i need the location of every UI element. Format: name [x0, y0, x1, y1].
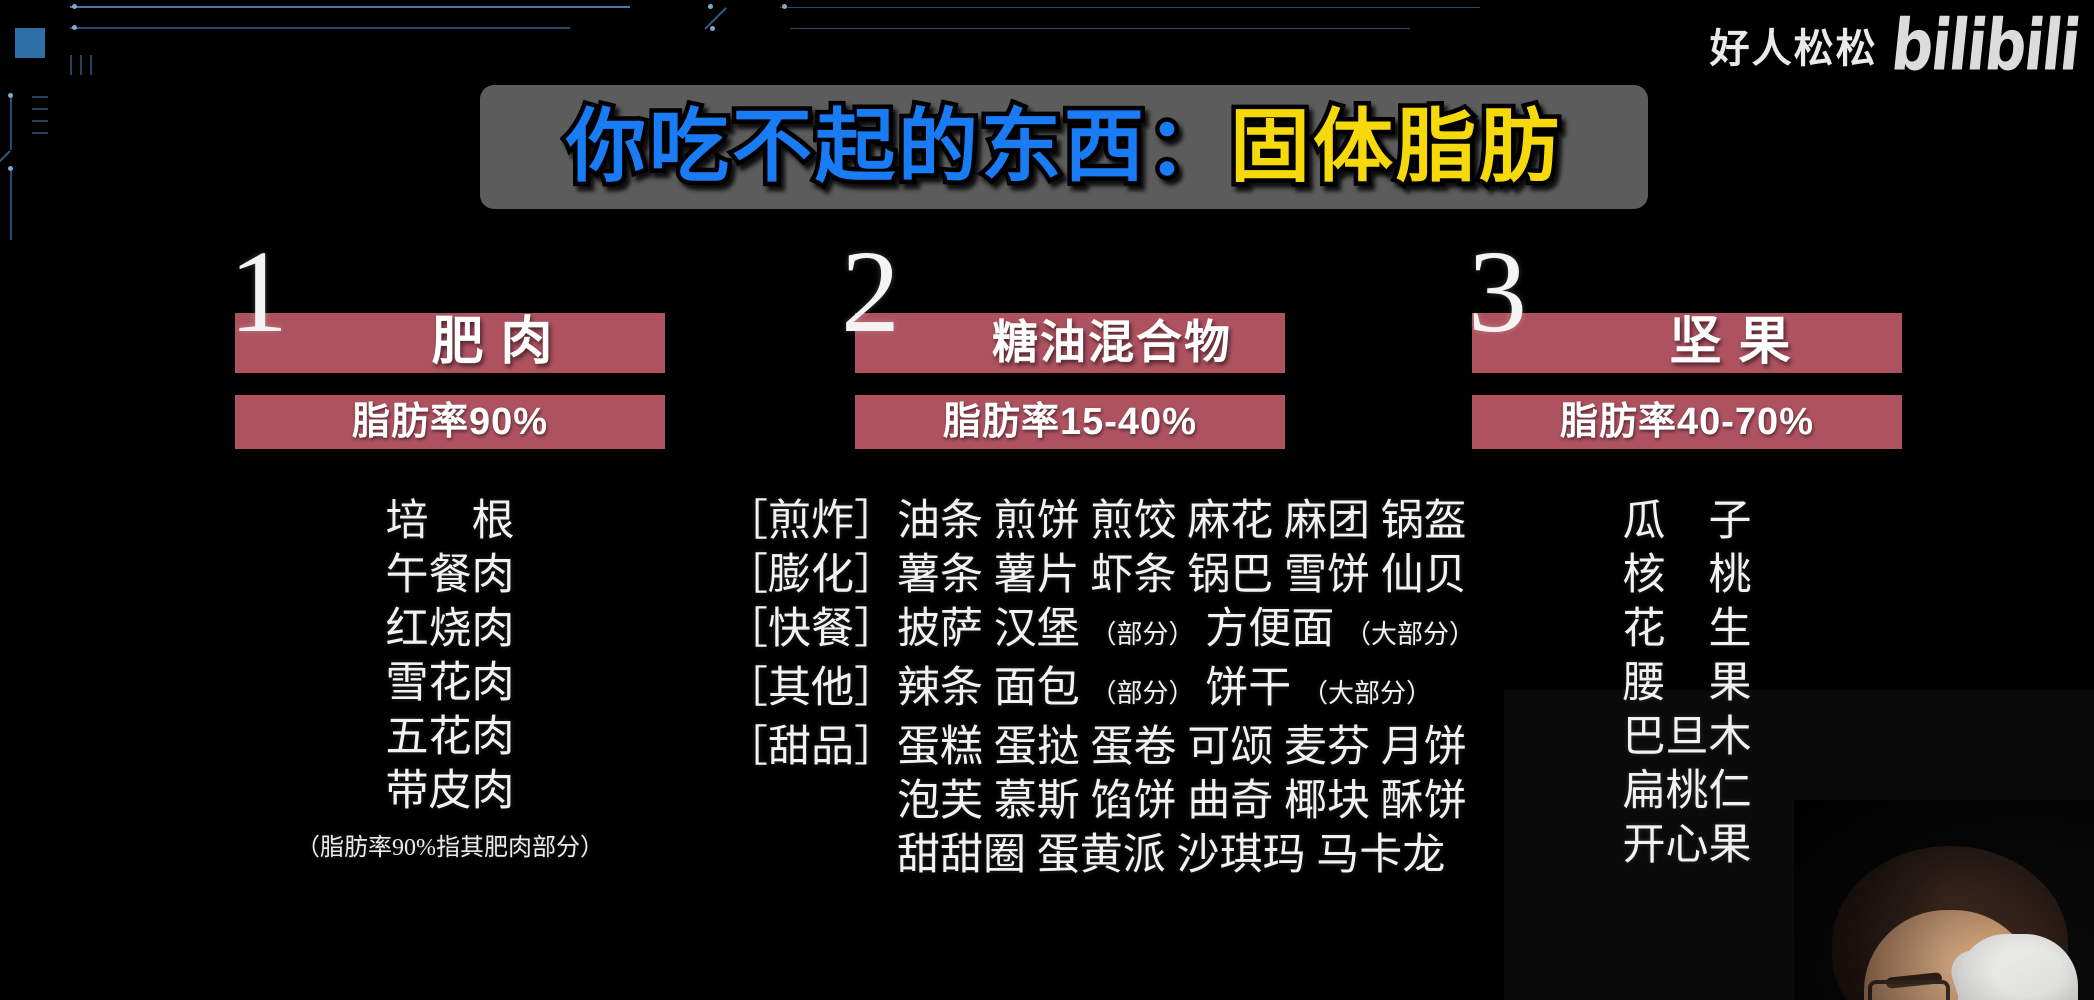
hud-dot-7 [8, 166, 13, 171]
category-column-1: 1 肥 肉 脂肪率90% 培 根 午餐肉 红烧肉 雪花肉 五花肉 带皮肉 （脂肪… [235, 245, 665, 455]
column-1-header: 1 肥 肉 脂肪率90% [235, 245, 665, 455]
bilibili-logo: bilibili [1889, 17, 2081, 74]
category-name-2: 糖油混合物 [992, 320, 1232, 366]
column-1-item-list: 培 根 午餐肉 红烧肉 雪花肉 五花肉 带皮肉 （脂肪率90%指其肥肉部分） [235, 495, 665, 863]
hud-dot-6 [8, 93, 13, 98]
hud-tick-v1 [70, 55, 72, 75]
rank-number-2: 2 [841, 233, 900, 351]
column-2-header: 2 糖油混合物 脂肪率15-40% [855, 245, 1285, 455]
fat-rate-bar-1: 脂肪率90% [235, 395, 665, 449]
hud-dot-5 [782, 4, 787, 9]
fat-rate-bar-3: 脂肪率40-70% [1472, 395, 1902, 449]
hud-blue-square [15, 28, 45, 58]
category-name-bar-2: 糖油混合物 [855, 313, 1285, 373]
hud-tick-v3 [90, 55, 92, 75]
fat-rate-bar-2: 脂肪率15-40% [855, 395, 1285, 449]
list-item: ［甜品］蛋糕 蛋挞 蛋卷 可颂 麦芬 月饼 [725, 721, 1545, 775]
hud-dot-1 [72, 4, 77, 9]
hud-top-line-3 [780, 7, 1480, 8]
list-item: 五花肉 [235, 711, 665, 765]
hud-left-rail-lower [10, 170, 12, 240]
title-prefix: 你吃不起的东西： [566, 100, 1230, 193]
title-highlight: 固体脂肪 [1230, 100, 1562, 193]
hud-tick-h3 [32, 120, 48, 122]
webcam-vignette [1794, 800, 2094, 1000]
webcam-overlay [1794, 800, 2094, 1000]
fat-rate-2: 脂肪率15-40% [943, 403, 1197, 441]
hud-top-line-1 [70, 6, 630, 8]
list-item: 花 生 [1472, 603, 1902, 657]
column-1-footnote: （脂肪率90%指其肥肉部分） [235, 833, 665, 863]
hud-diagonal-connector [704, 7, 727, 30]
list-item: 泡芙 慕斯 馅饼 曲奇 椰块 酥饼 [725, 775, 1545, 829]
hud-tick-h4 [32, 132, 48, 134]
hud-tick-v2 [80, 55, 82, 75]
list-item: 腰 果 [1472, 657, 1902, 711]
category-name-3: 坚 果 [1669, 317, 1792, 369]
page-title: 你吃不起的东西：固体脂肪 [566, 107, 1562, 187]
hud-tick-h2 [32, 108, 48, 110]
hud-top-line-4 [790, 28, 1410, 29]
video-frame: 好人松松 bilibili 你吃不起的东西：固体脂肪 1 肥 肉 脂肪率90% … [0, 0, 2094, 1000]
hud-top-line-2 [70, 27, 570, 29]
list-item: 雪花肉 [235, 657, 665, 711]
hud-left-rail-bend [0, 150, 11, 164]
list-item: 培 根 [235, 495, 665, 549]
list-item: 午餐肉 [235, 549, 665, 603]
fat-rate-3: 脂肪率40-70% [1560, 403, 1814, 441]
category-column-3: 3 坚 果 脂肪率40-70% 瓜 子 核 桃 花 生 腰 果 巴旦木 扁桃仁 … [1472, 245, 1902, 455]
category-name-bar-1: 肥 肉 [235, 313, 665, 373]
channel-name: 好人松松 [1710, 16, 1878, 74]
list-item: ［煎炸］油条 煎饼 煎饺 麻花 麻团 锅盔 [725, 495, 1545, 549]
channel-watermark: 好人松松 bilibili [1710, 16, 2078, 74]
list-item: ［膨化］薯条 薯片 虾条 锅巴 雪饼 仙贝 [725, 549, 1545, 603]
list-item: ［快餐］披萨 汉堡 （部分） 方便面 （大部分） [725, 603, 1545, 662]
hud-left-rail [10, 95, 12, 150]
category-name-bar-3: 坚 果 [1472, 313, 1902, 373]
list-item: 红烧肉 [235, 603, 665, 657]
hud-tick-h1 [32, 96, 48, 98]
list-item: 核 桃 [1472, 549, 1902, 603]
title-banner: 你吃不起的东西：固体脂肪 [480, 85, 1648, 209]
column-2-item-list: ［煎炸］油条 煎饼 煎饺 麻花 麻团 锅盔 ［膨化］薯条 薯片 虾条 锅巴 雪饼… [725, 495, 1545, 883]
list-item: 甜甜圈 蛋黄派 沙琪玛 马卡龙 [725, 829, 1545, 883]
list-item: 瓜 子 [1472, 495, 1902, 549]
rank-number-3: 3 [1468, 233, 1527, 351]
column-3-header: 3 坚 果 脂肪率40-70% [1472, 245, 1902, 455]
list-item: ［其他］辣条 面包 （部分） 饼干 （大部分） [725, 662, 1545, 721]
fat-rate-1: 脂肪率90% [352, 403, 548, 441]
hud-dot-2 [708, 4, 713, 9]
category-name-1: 肥 肉 [431, 317, 554, 369]
list-item: 巴旦木 [1472, 711, 1902, 765]
list-item: 带皮肉 [235, 765, 665, 819]
hud-dot-4 [710, 26, 715, 31]
hud-dot-3 [72, 25, 77, 30]
rank-number-1: 1 [229, 233, 288, 351]
category-column-2: 2 糖油混合物 脂肪率15-40% ［煎炸］油条 煎饼 煎饺 麻花 麻团 锅盔 … [855, 245, 1285, 455]
